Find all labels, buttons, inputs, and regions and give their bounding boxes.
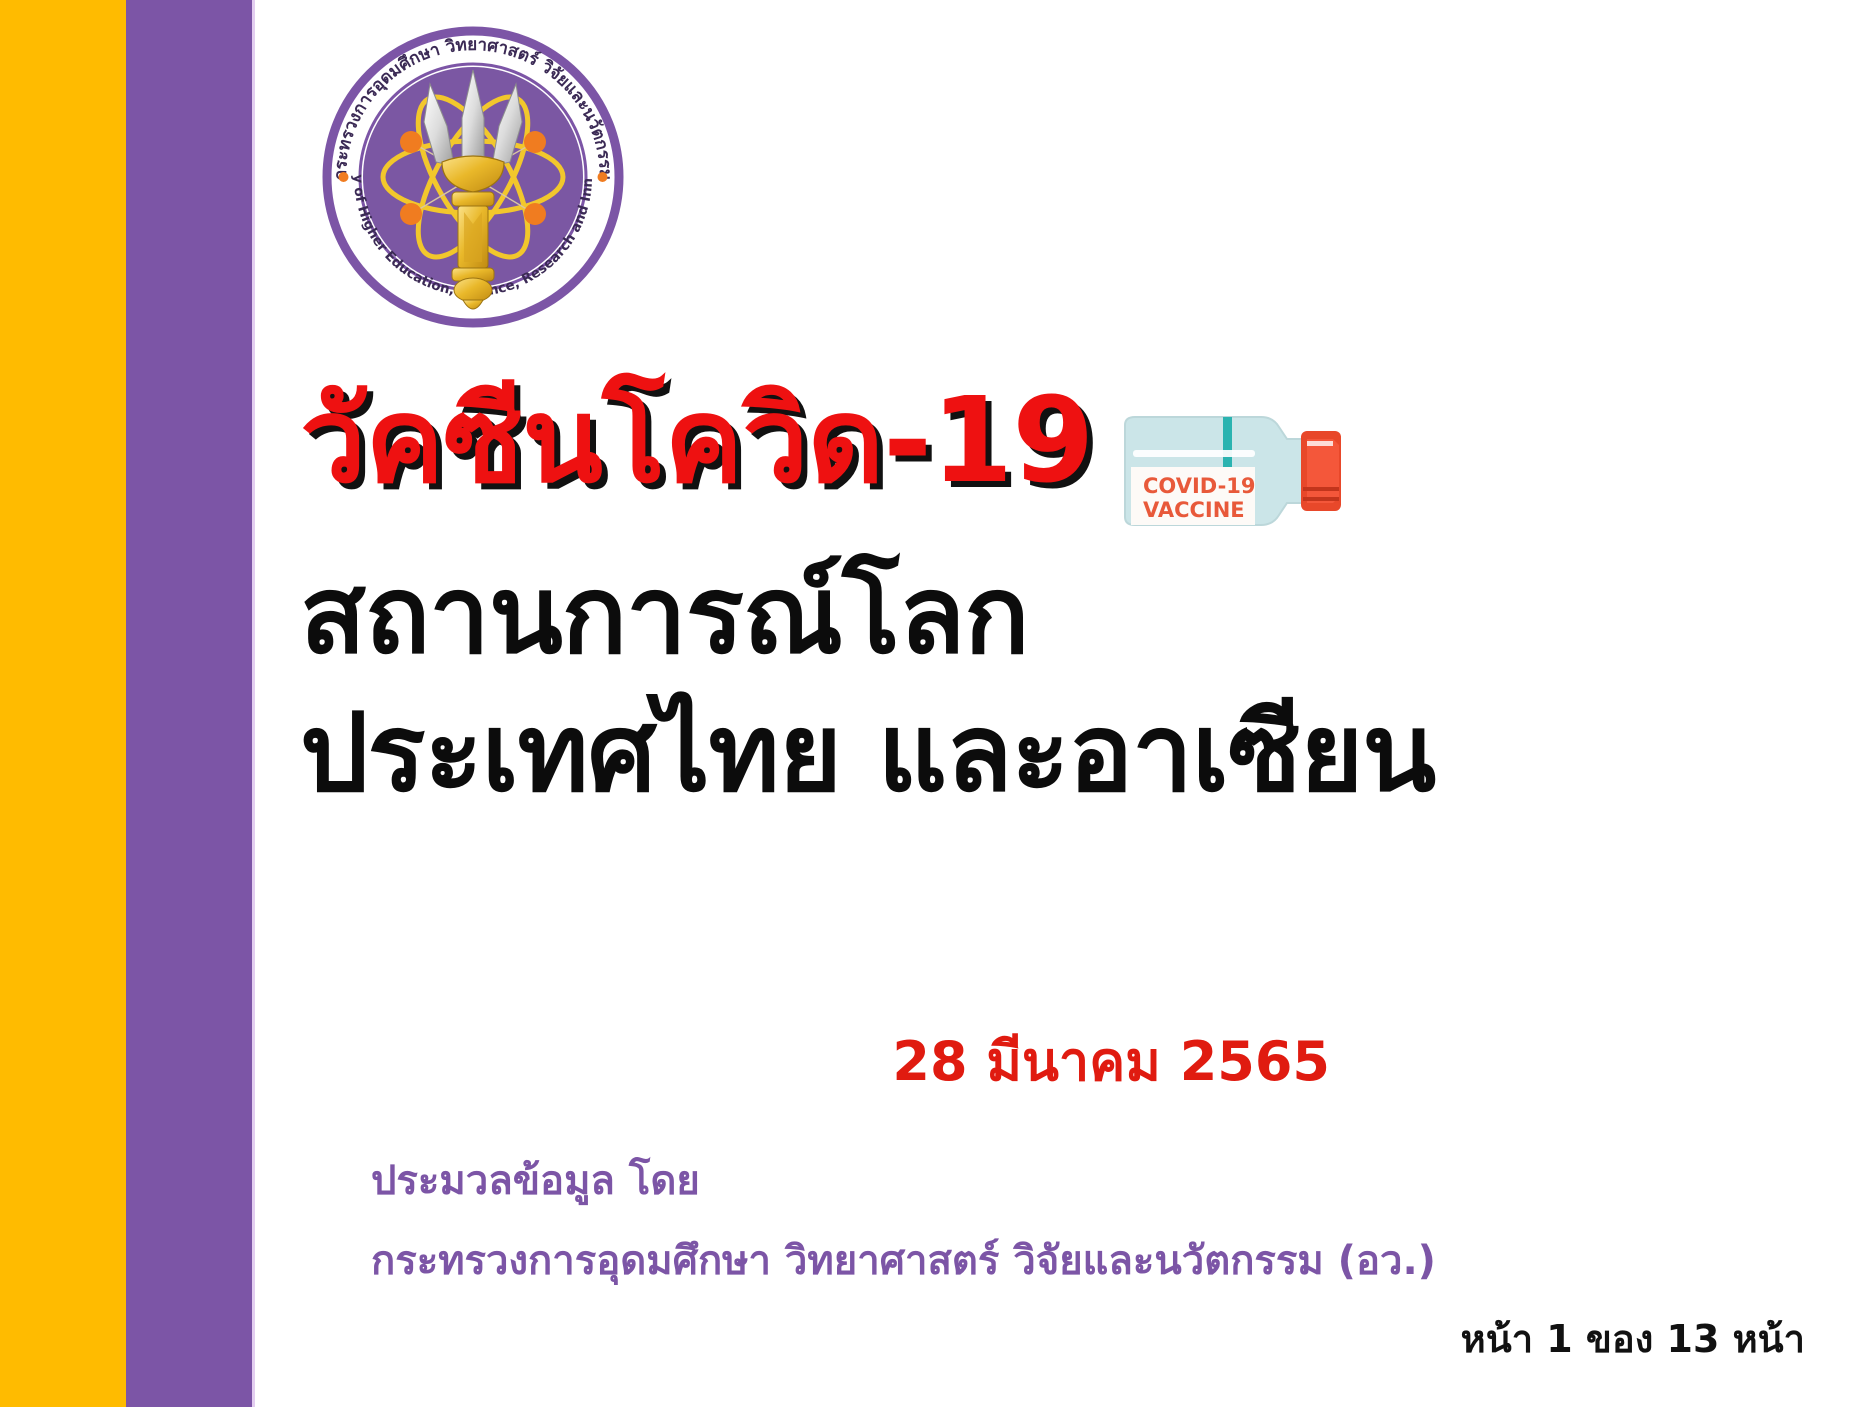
sidebar-band-yellow bbox=[0, 0, 126, 1407]
report-date: 28 มีนาคม 2565 bbox=[892, 1018, 1330, 1104]
page-title-red: วัคซีนโควิด-19 bbox=[300, 379, 1093, 502]
page-indicator: หน้า 1 ของ 13 หน้า bbox=[1461, 1308, 1805, 1369]
page-subtitle-line-1: สถานการณ์โลก bbox=[300, 550, 1820, 682]
vial-label-line-1: COVID-19 bbox=[1143, 474, 1256, 498]
headline-block: วัคซีนโควิด-19 COVID-19 VACCINE bbox=[300, 376, 1820, 820]
covid-19-vaccine-vial-icon: COVID-19 VACCINE bbox=[1111, 405, 1361, 537]
vial-label-line-2: VACCINE bbox=[1143, 498, 1245, 522]
slide-cover-page: กระทรวงการอุดมศึกษา วิทยาศาสตร์ วิจัยและ… bbox=[0, 0, 1875, 1407]
title-red-row: วัคซีนโควิด-19 COVID-19 VACCINE bbox=[300, 376, 1820, 504]
credit-compiled-by-label: ประมวลข้อมูล โดย bbox=[371, 1148, 700, 1212]
sidebar-band-purple bbox=[126, 0, 252, 1407]
ministry-logo: กระทรวงการอุดมศึกษา วิทยาศาสตร์ วิจัยและ… bbox=[318, 22, 628, 332]
page-subtitle-line-2: ประเทศไทย และอาเซียน bbox=[300, 688, 1820, 820]
credit-organisation-name: กระทรวงการอุดมศึกษา วิทยาศาสตร์ วิจัยและ… bbox=[371, 1228, 1436, 1292]
sidebar-band-edge bbox=[252, 0, 255, 1407]
